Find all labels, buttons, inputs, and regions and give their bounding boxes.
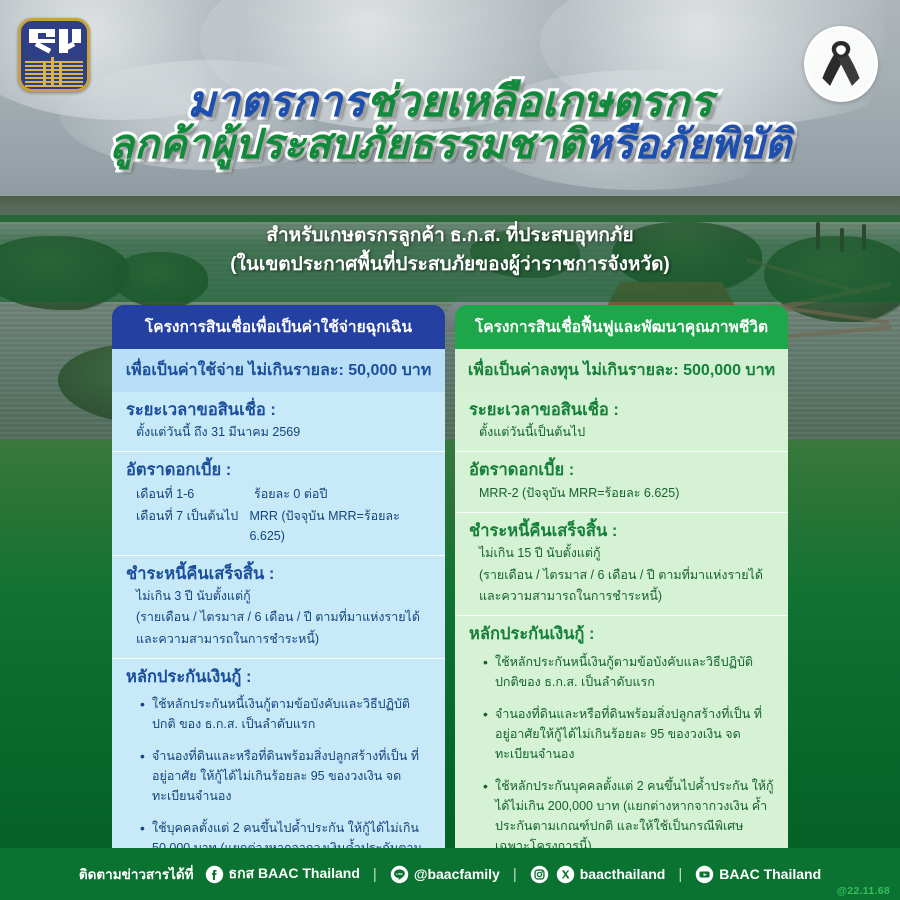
section-title: ชำระหนี้คืนเสร็จสิ้น : bbox=[469, 520, 774, 542]
card-header-title: โครงการสินเชื่อฟื้นฟูและพัฒนาคุณภาพชีวิต bbox=[455, 305, 788, 349]
section-repayment: ชำระหนี้คืนเสร็จสิ้น : ไม่เกิน 15 ปี นับ… bbox=[455, 512, 788, 615]
card-header-title: โครงการสินเชื่อเพื่อเป็นค่าใช้จ่ายฉุกเฉิ… bbox=[112, 305, 445, 349]
social-x-twitter[interactable]: baacthailand bbox=[556, 865, 666, 884]
list-item: ใช้หลักประกันหนี้เงินกู้ตามข้อบังคับและว… bbox=[140, 694, 431, 734]
x-twitter-icon[interactable] bbox=[556, 865, 575, 884]
section-title: ชำระหนี้คืนเสร็จสิ้น : bbox=[126, 563, 431, 585]
svg-text:LINE: LINE bbox=[396, 871, 403, 875]
social-youtube-label[interactable]: BAAC Thailand bbox=[719, 866, 821, 882]
facebook-icon[interactable] bbox=[205, 865, 224, 884]
footer-lead-label: ติดตามข่าวสารได้ที่ bbox=[79, 863, 194, 885]
social-instagram[interactable] bbox=[530, 865, 549, 884]
footer-social-bar: ติดตามข่าวสารได้ที่ ธกส BAAC Thailand | … bbox=[0, 848, 900, 900]
card-rehabilitation-quality-of-life-credit: โครงการสินเชื่อฟื้นฟูและพัฒนาคุณภาพชีวิต… bbox=[455, 305, 788, 900]
footer-separator: | bbox=[513, 866, 517, 883]
subtitle-block: สำหรับเกษตรกรลูกค้า ธ.ก.ส. ที่ประสบอุทกภ… bbox=[0, 222, 900, 279]
list-item: ใช้หลักประกันบุคคลตั้งแต่ 2 คนขึ้นไปค้ำป… bbox=[483, 776, 774, 856]
credit-program-cards: โครงการสินเชื่อเพื่อเป็นค่าใช้จ่ายฉุกเฉิ… bbox=[0, 305, 900, 900]
section-title: หลักประกันเงินกู้ : bbox=[469, 623, 774, 645]
social-line[interactable]: LINE @baacfamily bbox=[390, 865, 500, 884]
headline-line-1-part-1: มาตรการ bbox=[187, 78, 366, 126]
section-line: ตั้งแต่วันนี้เป็นต้นไป bbox=[469, 423, 774, 442]
line-icon[interactable]: LINE bbox=[390, 865, 409, 884]
subtitle-line-1: สำหรับเกษตรกรลูกค้า ธ.ก.ส. ที่ประสบอุทกภ… bbox=[0, 222, 900, 251]
footer-separator: | bbox=[678, 866, 682, 883]
card-amount-band: เพื่อเป็นค่าใช้จ่าย ไม่เกินรายละ: 50,000… bbox=[112, 349, 445, 392]
headline-line-2-part-2: หรือภัยพิบัติ bbox=[585, 121, 792, 167]
social-facebook[interactable]: ธกส BAAC Thailand bbox=[205, 863, 360, 885]
headline-line-1: มาตรการช่วยเหลือเกษตรกร bbox=[0, 78, 900, 126]
section-interest-rate: อัตราดอกเบี้ย : เดือนที่ 1-6 ร้อยละ 0 ต่… bbox=[112, 451, 445, 554]
collateral-bullet-list: ใช้หลักประกันหนี้เงินกู้ตามข้อบังคับและว… bbox=[469, 652, 774, 856]
social-facebook-label[interactable]: ธกส BAAC Thailand bbox=[229, 863, 360, 885]
section-line: (รายเดือน / ไตรมาส / 6 เดือน / ปี ตามที่… bbox=[469, 566, 774, 585]
rate-value: ร้อยละ 0 ต่อปี bbox=[254, 484, 327, 504]
rate-value: MRR (ปัจจุบัน MRR=ร้อยละ 6.625) bbox=[249, 506, 431, 546]
list-item: จำนองที่ดินและหรือที่ดินพร้อมสิ่งปลูกสร้… bbox=[483, 704, 774, 764]
section-line: ไม่เกิน 15 ปี นับตั้งแต่กู้ bbox=[469, 544, 774, 563]
section-title: อัตราดอกเบี้ย : bbox=[126, 459, 431, 481]
section-repayment: ชำระหนี้คืนเสร็จสิ้น : ไม่เกิน 3 ปี นับต… bbox=[112, 555, 445, 658]
section-title: หลักประกันเงินกู้ : bbox=[126, 666, 431, 688]
section-title: ระยะเวลาขอสินเชื่อ : bbox=[469, 399, 774, 421]
subtitle-line-2: (ในเขตประกาศพื้นที่ประสบภัยของผู้ว่าราชก… bbox=[0, 251, 900, 280]
section-collateral: หลักประกันเงินกู้ : ใช้หลักประกันหนี้เงิ… bbox=[455, 615, 788, 866]
footer-separator: | bbox=[373, 866, 377, 883]
rate-period: เดือนที่ 1-6 bbox=[136, 484, 248, 504]
date-stamp: @22.11.68 bbox=[837, 885, 890, 897]
headline-line-2: ลูกค้าผู้ประสบภัยธรรมชาติหรือภัยพิบัติ bbox=[0, 122, 900, 168]
section-credit-period: ระยะเวลาขอสินเชื่อ : ตั้งแต่วันนี้ ถึง 3… bbox=[112, 392, 445, 452]
card-body: ระยะเวลาขอสินเชื่อ : ตั้งแต่วันนี้ ถึง 3… bbox=[112, 392, 445, 900]
headline-block: มาตรการช่วยเหลือเกษตรกร ลูกค้าผู้ประสบภั… bbox=[0, 78, 900, 168]
section-line: (รายเดือน / ไตรมาส / 6 เดือน / ปี ตามที่… bbox=[126, 608, 431, 627]
card-amount-band: เพื่อเป็นค่าลงทุน ไม่เกินรายละ: 500,000 … bbox=[455, 349, 788, 392]
rate-row: เดือนที่ 1-6 ร้อยละ 0 ต่อปี bbox=[126, 484, 431, 504]
headline-line-2-part-1: ลูกค้าผู้ประสบภัยธรรมชาติ bbox=[109, 121, 585, 167]
headline-line-1-part-2: ช่วยเหลือเกษตรกร bbox=[366, 78, 713, 126]
section-line: และความสามารถในการชำระหนี้) bbox=[126, 630, 431, 649]
list-item: ใช้หลักประกันหนี้เงินกู้ตามข้อบังคับและว… bbox=[483, 652, 774, 692]
social-x-label[interactable]: baacthailand bbox=[580, 866, 666, 882]
list-item: จำนองที่ดินและหรือที่ดินพร้อมสิ่งปลูกสร้… bbox=[140, 746, 431, 806]
rate-row: เดือนที่ 7 เป็นต้นไป MRR (ปัจจุบัน MRR=ร… bbox=[126, 506, 431, 546]
section-title: ระยะเวลาขอสินเชื่อ : bbox=[126, 399, 431, 421]
social-line-label[interactable]: @baacfamily bbox=[414, 866, 500, 882]
section-line: และความสามารถในการชำระหนี้) bbox=[469, 587, 774, 606]
section-credit-period: ระยะเวลาขอสินเชื่อ : ตั้งแต่วันนี้เป็นต้… bbox=[455, 392, 788, 452]
card-emergency-expense-credit: โครงการสินเชื่อเพื่อเป็นค่าใช้จ่ายฉุกเฉิ… bbox=[112, 305, 445, 900]
section-line: ตั้งแต่วันนี้ ถึง 31 มีนาคม 2569 bbox=[126, 423, 431, 442]
rate-period: เดือนที่ 7 เป็นต้นไป bbox=[136, 506, 243, 546]
instagram-icon[interactable] bbox=[530, 865, 549, 884]
infographic-canvas: มาตรการช่วยเหลือเกษตรกร ลูกค้าผู้ประสบภั… bbox=[0, 0, 900, 900]
youtube-icon[interactable] bbox=[695, 865, 714, 884]
card-body: ระยะเวลาขอสินเชื่อ : ตั้งแต่วันนี้เป็นต้… bbox=[455, 392, 788, 883]
section-interest-rate: อัตราดอกเบี้ย : MRR-2 (ปัจจุบัน MRR=ร้อย… bbox=[455, 451, 788, 512]
section-line: ไม่เกิน 3 ปี นับตั้งแต่กู้ bbox=[126, 587, 431, 606]
section-title: อัตราดอกเบี้ย : bbox=[469, 459, 774, 481]
logo-rice-motif bbox=[21, 21, 87, 55]
section-line: MRR-2 (ปัจจุบัน MRR=ร้อยละ 6.625) bbox=[469, 484, 774, 503]
social-youtube[interactable]: BAAC Thailand bbox=[695, 865, 821, 884]
